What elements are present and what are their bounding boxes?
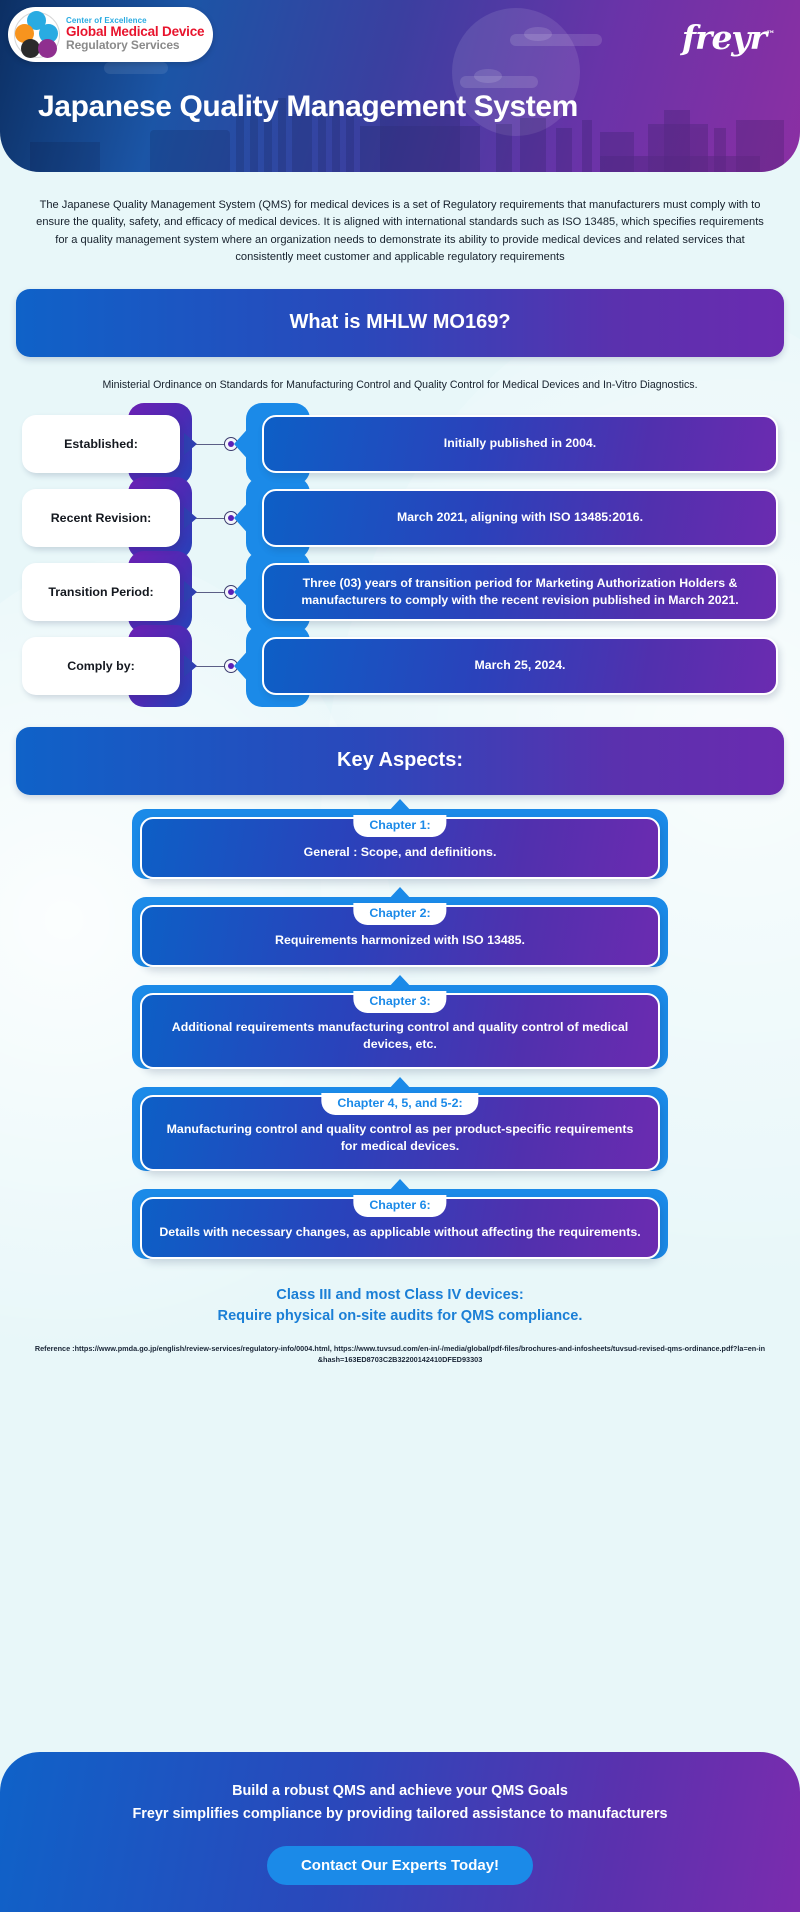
timeline-label: Comply by: bbox=[22, 637, 180, 695]
contact-experts-button[interactable]: Contact Our Experts Today! bbox=[267, 1846, 533, 1885]
chapter-item: Manufacturing control and quality contro… bbox=[140, 1095, 660, 1171]
timeline-value-wrap: March 2021, aligning with ISO 13485:2016… bbox=[250, 489, 778, 547]
timeline-row: Recent Revision: March 2021, aligning wi… bbox=[22, 489, 778, 547]
timeline-value: Three (03) years of transition period fo… bbox=[262, 563, 778, 621]
timeline-label: Established: bbox=[22, 415, 180, 473]
chapter-pill: Chapter 6: bbox=[353, 1195, 446, 1217]
chapter-text: General : Scope, and definitions. bbox=[304, 844, 497, 861]
mhlw-description: Ministerial Ordinance on Standards for M… bbox=[36, 377, 764, 393]
chapter-text: Details with necessary changes, as appli… bbox=[159, 1224, 640, 1241]
class-note-line-1: Class III and most Class IV devices: bbox=[40, 1285, 760, 1306]
reference-text: Reference :https://www.pmda.go.jp/englis… bbox=[34, 1343, 766, 1365]
chapter-pill: Chapter 1: bbox=[353, 815, 446, 837]
timeline-label: Transition Period: bbox=[22, 563, 180, 621]
chapter-item: General : Scope, and definitions. Chapte… bbox=[140, 817, 660, 879]
timeline-label-wrap: Transition Period: bbox=[22, 563, 192, 621]
chapter-tip-icon bbox=[387, 1077, 413, 1091]
timeline-value: March 25, 2024. bbox=[262, 637, 778, 695]
timeline-row: Transition Period: Three (03) years of t… bbox=[22, 563, 778, 621]
center-of-excellence-logo: Center of Excellence Global Medical Devi… bbox=[8, 7, 213, 62]
timeline-label-wrap: Comply by: bbox=[22, 637, 192, 695]
chapter-tip-icon bbox=[387, 975, 413, 989]
chapter-tip-icon bbox=[387, 799, 413, 813]
timeline-label-wrap: Recent Revision: bbox=[22, 489, 192, 547]
timeline-value: March 2021, aligning with ISO 13485:2016… bbox=[262, 489, 778, 547]
footer-line-1: Build a robust QMS and achieve your QMS … bbox=[232, 1780, 568, 1803]
freyr-brand-logo: freyr™ bbox=[682, 18, 774, 57]
chapter-item: Requirements harmonized with ISO 13485. … bbox=[140, 905, 660, 967]
chapter-text: Additional requirements manufacturing co… bbox=[158, 1019, 642, 1053]
timeline-row: Established: Initially published in 2004… bbox=[22, 415, 778, 473]
logo-line-3: Regulatory Services bbox=[66, 39, 204, 51]
key-aspects-title: Key Aspects: bbox=[337, 749, 463, 772]
timeline-value: Initially published in 2004. bbox=[262, 415, 778, 473]
chapter-text: Manufacturing control and quality contro… bbox=[158, 1121, 642, 1155]
chapter-item: Details with necessary changes, as appli… bbox=[140, 1197, 660, 1259]
chapter-text: Requirements harmonized with ISO 13485. bbox=[275, 932, 525, 949]
timeline-value-notch-icon bbox=[234, 498, 252, 538]
chapter-item: Additional requirements manufacturing co… bbox=[140, 993, 660, 1069]
timeline-label: Recent Revision: bbox=[22, 489, 180, 547]
timeline-row: Comply by: March 25, 2024. bbox=[22, 637, 778, 695]
mhlw-banner: What is MHLW MO169? bbox=[16, 289, 784, 357]
timeline-value-wrap: Initially published in 2004. bbox=[250, 415, 778, 473]
key-aspects-banner: Key Aspects: bbox=[16, 727, 784, 795]
class-audit-note: Class III and most Class IV devices: Req… bbox=[40, 1285, 760, 1327]
chapter-pill: Chapter 3: bbox=[353, 991, 446, 1013]
page-header: Center of Excellence Global Medical Devi… bbox=[0, 0, 800, 172]
freyr-wordmark: freyr bbox=[682, 18, 766, 57]
chapter-pill: Chapter 2: bbox=[353, 903, 446, 925]
logo-line-2: Global Medical Device bbox=[66, 25, 204, 39]
timeline-label-wrap: Established: bbox=[22, 415, 192, 473]
chapter-list: General : Scope, and definitions. Chapte… bbox=[0, 817, 800, 1259]
timeline-value-notch-icon bbox=[234, 572, 252, 612]
infographic-page: Center of Excellence Global Medical Devi… bbox=[0, 0, 800, 1912]
timeline-value-wrap: Three (03) years of transition period fo… bbox=[250, 563, 778, 621]
timeline-value-wrap: March 25, 2024. bbox=[250, 637, 778, 695]
page-footer: Build a robust QMS and achieve your QMS … bbox=[0, 1752, 800, 1912]
chapter-tip-icon bbox=[387, 1179, 413, 1193]
page-title: Japanese Quality Management System bbox=[38, 90, 578, 124]
freyr-dots-icon bbox=[14, 12, 60, 58]
cloud-decoration-icon bbox=[510, 34, 602, 46]
mhlw-banner-title: What is MHLW MO169? bbox=[289, 311, 510, 334]
chapter-tip-icon bbox=[387, 887, 413, 901]
intro-paragraph: The Japanese Quality Management System (… bbox=[30, 197, 770, 267]
trademark-symbol: ™ bbox=[766, 30, 774, 40]
timeline-value-notch-icon bbox=[234, 646, 252, 686]
chapter-pill: Chapter 4, 5, and 5-2: bbox=[321, 1093, 478, 1115]
timeline-list: Established: Initially published in 2004… bbox=[0, 415, 800, 695]
footer-line-2: Freyr simplifies compliance by providing… bbox=[132, 1803, 667, 1826]
timeline-value-notch-icon bbox=[234, 424, 252, 464]
class-note-line-2: Require physical on-site audits for QMS … bbox=[40, 1306, 760, 1327]
